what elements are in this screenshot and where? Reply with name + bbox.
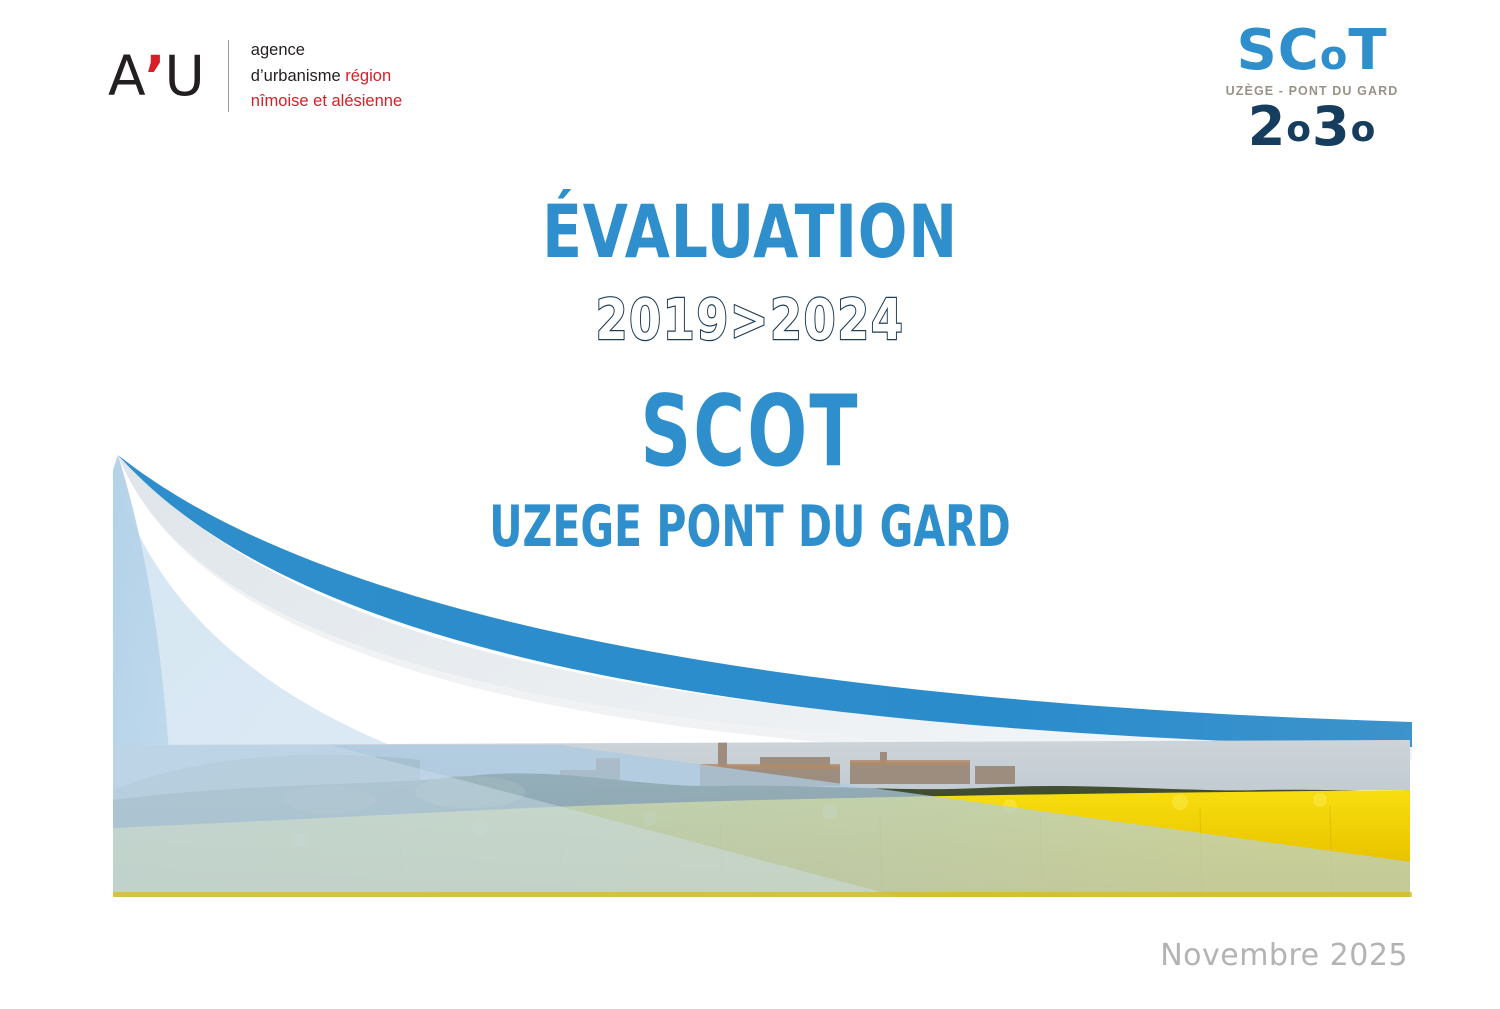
scot-logo-t: T [1348, 18, 1387, 83]
photo-bottom-strip [113, 892, 1412, 897]
agency-logo: A’U agence d’urbanisme région nîmoise et… [108, 38, 402, 115]
scot-logo-year: 2o3o [1212, 99, 1412, 156]
logo-divider [228, 40, 229, 112]
scot-logo-o: o [1320, 33, 1348, 79]
agency-tagline-line2-red: région [345, 67, 391, 85]
au-monogram: A’U [108, 49, 204, 104]
scot-year-o-second: o [1351, 109, 1377, 150]
au-apostrophe: ’ [145, 44, 165, 108]
agency-tagline-line3: nîmoise et alésienne [251, 89, 402, 115]
publication-date: Novembre 2025 [1160, 938, 1408, 973]
scot-2030-logo: SCoT UZÈGE - PONT DU GARD 2o3o [1212, 24, 1412, 156]
cover-page: A’U agence d’urbanisme région nîmoise et… [0, 0, 1500, 1009]
scot-logo-sc: SC [1236, 18, 1319, 83]
scot-logo-wordmark: SCoT [1212, 24, 1412, 79]
agency-tagline-line2: d’urbanisme région [251, 64, 402, 90]
au-letter-a: A [108, 44, 145, 108]
scot-year-digit-2: 2 [1248, 95, 1287, 158]
au-letter-u: U [165, 44, 204, 108]
agency-tagline: agence d’urbanisme région nîmoise et alé… [251, 38, 402, 115]
agency-tagline-line1: agence [251, 38, 402, 64]
scot-year-o-first: o [1286, 109, 1312, 150]
agency-tagline-line2-black: d’urbanisme [251, 67, 345, 85]
scot-year-digit-3: 3 [1312, 95, 1351, 158]
